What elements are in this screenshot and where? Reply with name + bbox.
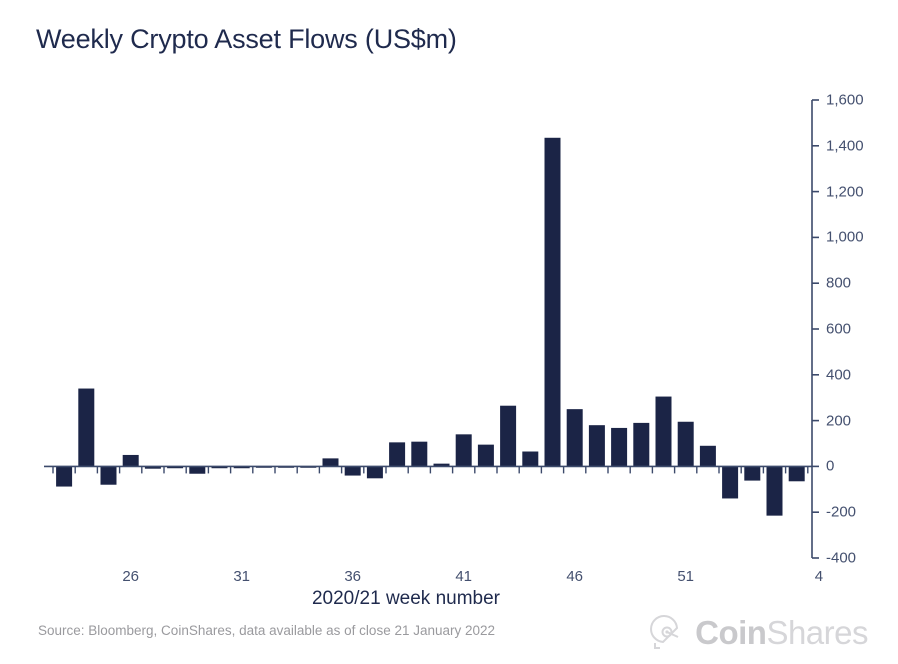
bar-chart-canvas <box>44 90 812 570</box>
bar <box>789 466 805 481</box>
chart-root: Weekly Crypto Asset Flows (US$m) 1,6001,… <box>0 0 898 664</box>
page-title: Weekly Crypto Asset Flows (US$m) <box>36 24 457 55</box>
bar <box>389 442 405 466</box>
x-axis-tick-label: 51 <box>677 568 694 585</box>
bar <box>101 466 117 484</box>
bar <box>567 409 583 466</box>
bar <box>323 458 339 466</box>
bar <box>545 138 561 467</box>
x-axis-tick-label: 46 <box>566 568 583 585</box>
bar <box>478 445 494 467</box>
bar <box>411 442 427 467</box>
x-axis-tick-label: 36 <box>344 568 361 585</box>
bar <box>456 434 472 466</box>
y-axis-tick-label: 600 <box>826 321 851 338</box>
bar <box>744 466 760 480</box>
coinshares-logo-icon <box>647 612 687 652</box>
bar <box>189 466 205 473</box>
plot-area: 1,6001,4001,2001,0008006004002000-200-40… <box>44 90 812 570</box>
y-axis-tick-label: 200 <box>826 412 851 429</box>
bar <box>123 455 139 466</box>
bar <box>589 425 605 466</box>
y-axis-tick-label: 400 <box>826 366 851 383</box>
bar <box>611 428 627 466</box>
y-axis-tick-label: 1,600 <box>826 92 864 109</box>
x-axis-tick-label: 41 <box>455 568 472 585</box>
x-axis-title: 2020/21 week number <box>0 588 812 610</box>
axes-group <box>44 100 819 558</box>
bar <box>56 466 72 486</box>
bars-group <box>56 138 805 516</box>
bar <box>633 423 649 467</box>
bar <box>700 446 716 467</box>
bar <box>767 466 783 515</box>
y-axis-tick-label: 800 <box>826 275 851 292</box>
y-axis-tick-label: 0 <box>826 458 834 475</box>
y-axis-tick-label: -400 <box>826 550 856 567</box>
source-note: Source: Bloomberg, CoinShares, data avai… <box>38 623 495 638</box>
brand-name-bold: Coin <box>695 614 766 651</box>
brand-wordmark: CoinShares <box>695 616 868 649</box>
bar <box>522 452 538 467</box>
brand-name-light: Shares <box>766 614 868 651</box>
bar <box>367 466 383 478</box>
bar <box>656 397 672 467</box>
y-axis-tick-label: 1,000 <box>826 229 864 246</box>
coinshares-brand: CoinShares <box>647 612 868 652</box>
y-axis-tick-label: 1,200 <box>826 183 864 200</box>
bar <box>78 389 94 467</box>
bar <box>345 466 361 475</box>
bar <box>722 466 738 498</box>
bar <box>500 406 516 467</box>
y-axis-tick-label: 1,400 <box>826 137 864 154</box>
x-axis-tick-label: 4 <box>815 568 823 585</box>
x-axis-tick-label: 31 <box>233 568 250 585</box>
y-axis-tick-label: -200 <box>826 504 856 521</box>
x-axis-tick-label: 26 <box>122 568 139 585</box>
bar <box>678 422 694 467</box>
